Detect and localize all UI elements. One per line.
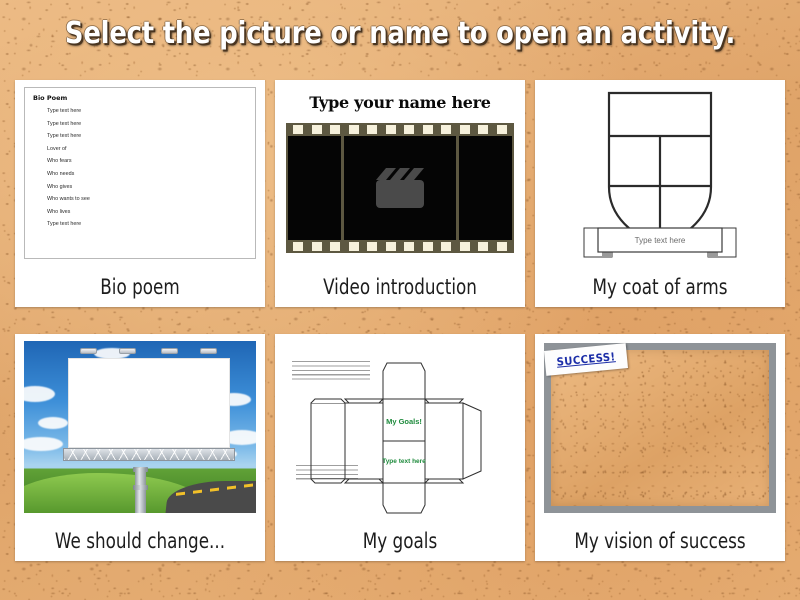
sprocket-hole xyxy=(312,125,322,134)
bio-poem-line: Lover of xyxy=(47,146,247,152)
film-frames xyxy=(286,136,514,240)
sprocket-hole xyxy=(367,125,377,134)
cloud xyxy=(38,417,68,429)
clapperboard-icon xyxy=(374,166,426,210)
sprocket-hole xyxy=(441,125,451,134)
billboard-thumbnail[interactable] xyxy=(22,341,258,521)
activity-card-my-coat-of-arms[interactable]: Type text here My coat of arms xyxy=(535,80,785,307)
cube-net-graphic: My Goals! Type text here xyxy=(282,341,518,521)
activity-label-bio-poem[interactable]: Bio poem xyxy=(46,267,235,307)
bio-poem-line: Who lives xyxy=(47,209,247,215)
filmstrip-sprocket-row-bottom xyxy=(286,240,514,253)
sprocket-hole xyxy=(330,242,340,251)
billboard-lamp xyxy=(200,348,217,354)
vision-of-success-thumbnail[interactable]: SUCCESS! xyxy=(542,341,778,521)
bio-poem-line: Type text here xyxy=(47,121,247,127)
activity-card-my-goals[interactable]: My Goals! Type text here My goals xyxy=(275,334,525,561)
activity-label-my-coat-of-arms[interactable]: My coat of arms xyxy=(566,267,755,307)
cube-panel-heading: My Goals! xyxy=(386,417,422,426)
coat-of-arms-banner-text: Type text here xyxy=(635,236,686,245)
billboard-lamp xyxy=(80,348,97,354)
bio-poem-line: Who fears xyxy=(47,158,247,164)
sprocket-hole xyxy=(367,242,377,251)
sprocket-hole xyxy=(423,242,433,251)
billboard-lamp xyxy=(161,348,178,354)
activity-card-my-vision-of-success[interactable]: SUCCESS! My vision of success xyxy=(535,334,785,561)
shield-icon: Type text here xyxy=(542,87,778,267)
billboard-truss xyxy=(63,448,235,461)
sprocket-hole xyxy=(330,125,340,134)
sprocket-hole xyxy=(312,242,322,251)
bio-poem-heading: Bio Poem xyxy=(33,94,247,102)
video-name-placeholder: Type your name here xyxy=(282,93,518,112)
billboard-scene xyxy=(24,341,256,513)
activity-card-grid: Bio Poem Type text here Type text here T… xyxy=(15,80,785,585)
sprocket-hole xyxy=(460,125,470,134)
success-note-text: SUCCESS! xyxy=(556,350,616,369)
sprocket-hole xyxy=(478,125,488,134)
film-frame-center xyxy=(344,136,456,240)
cloud xyxy=(24,437,63,451)
sprocket-hole xyxy=(423,125,433,134)
sprocket-hole xyxy=(497,125,507,134)
filmstrip-sprocket-row-top xyxy=(286,123,514,136)
sprocket-hole xyxy=(293,242,303,251)
sprocket-hole xyxy=(460,242,470,251)
cube-net-instruction-top xyxy=(292,361,370,381)
bio-poem-line: Who needs xyxy=(47,171,247,177)
video-introduction-thumbnail[interactable]: Type your name here xyxy=(282,87,518,267)
bio-poem-line: Type text here xyxy=(47,221,247,227)
cloud xyxy=(24,386,55,402)
sprocket-hole xyxy=(349,125,359,134)
sprocket-hole xyxy=(497,242,507,251)
cube-net-instruction-bottom xyxy=(296,465,358,480)
sprocket-hole xyxy=(441,242,451,251)
cube-panel-text: Type text here xyxy=(382,458,426,465)
sprocket-hole xyxy=(404,125,414,134)
page-title: Select the picture or name to open an ac… xyxy=(56,16,744,51)
bio-poem-thumbnail[interactable]: Bio Poem Type text here Type text here T… xyxy=(22,87,258,267)
bio-poem-line: Who gives xyxy=(47,184,247,190)
billboard-collar xyxy=(133,485,148,490)
activity-card-video-introduction[interactable]: Type your name here xyxy=(275,80,525,307)
film-frame xyxy=(459,136,512,240)
bio-poem-line: Type text here xyxy=(47,133,247,139)
bio-poem-line: Type text here xyxy=(47,108,247,114)
sprocket-hole xyxy=(478,242,488,251)
bio-poem-sheet: Bio Poem Type text here Type text here T… xyxy=(24,87,256,259)
activity-card-bio-poem[interactable]: Bio Poem Type text here Type text here T… xyxy=(15,80,265,307)
coat-of-arms-graphic: Type text here xyxy=(542,87,778,267)
activity-label-my-goals[interactable]: My goals xyxy=(306,521,495,561)
billboard-lamp xyxy=(119,348,136,354)
activity-label-video-introduction[interactable]: Video introduction xyxy=(306,267,495,307)
sprocket-hole xyxy=(349,242,359,251)
sprocket-hole xyxy=(386,125,396,134)
billboard-pole xyxy=(135,468,146,513)
coat-of-arms-thumbnail[interactable]: Type text here xyxy=(542,87,778,267)
activity-label-we-should-change[interactable]: We should change... xyxy=(46,521,235,561)
bio-poem-line: Who wants to see xyxy=(47,196,247,202)
sprocket-hole xyxy=(293,125,303,134)
film-frame xyxy=(288,136,341,240)
billboard-blank-panel[interactable] xyxy=(68,358,230,447)
sprocket-hole xyxy=(404,242,414,251)
sprocket-hole xyxy=(386,242,396,251)
filmstrip xyxy=(286,123,514,253)
my-goals-thumbnail[interactable]: My Goals! Type text here xyxy=(282,341,518,521)
activity-label-my-vision-of-success[interactable]: My vision of success xyxy=(566,521,755,561)
activity-card-we-should-change[interactable]: We should change... xyxy=(15,334,265,561)
